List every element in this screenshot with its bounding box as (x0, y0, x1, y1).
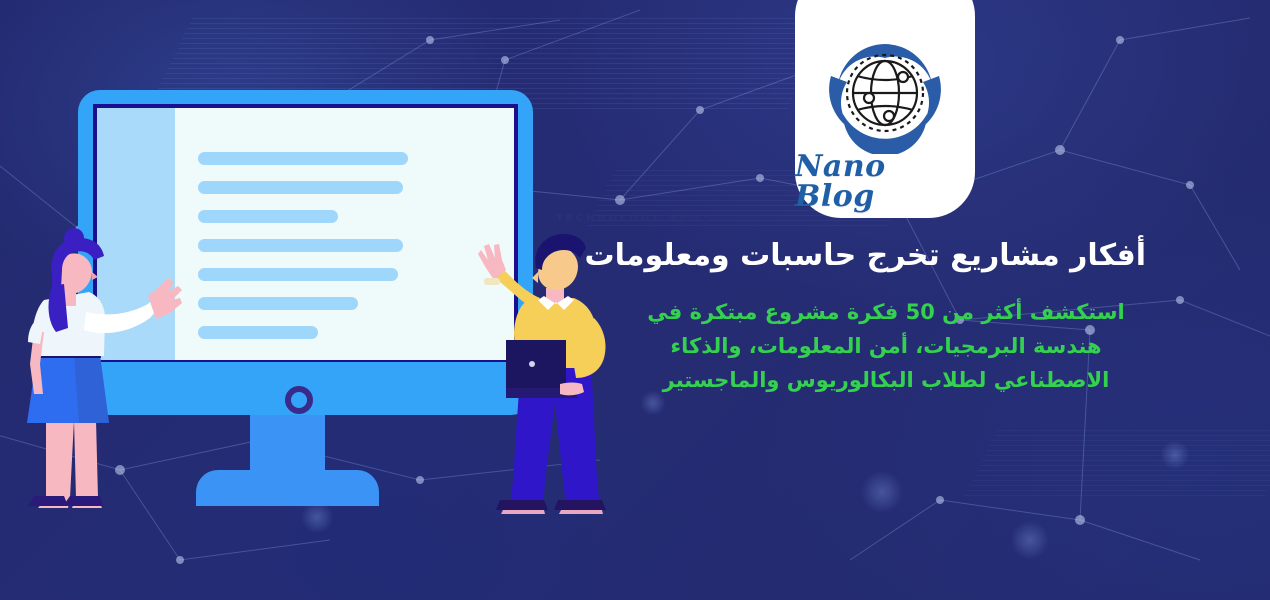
bokeh-glow (860, 470, 904, 514)
stripe-accent-bottom (963, 430, 1270, 500)
hero-illustration (0, 0, 640, 600)
text-block: أفكار مشاريع تخرج حاسبات ومعلومات استكشف… (626, 236, 1146, 397)
brand-wordmark: Nano Blog (795, 152, 975, 212)
bokeh-glow (1160, 440, 1190, 470)
brand-tagline: TECHNOLOGY NEWS (0, 213, 1270, 224)
monitor-stand-base (196, 470, 379, 506)
brand-logo-card: Nano Blog (795, 0, 975, 218)
bokeh-glow (1010, 520, 1050, 560)
page-subtitle: استكشف أكثر من 50 فكرة مشروع مبتكرة في ه… (626, 295, 1146, 397)
banner-root: Nano Blog TECHNOLOGY NEWS أفكار مشاريع ت… (0, 0, 1270, 600)
page-title: أفكار مشاريع تخرج حاسبات ومعلومات (626, 236, 1146, 277)
globe-network-icon (825, 36, 945, 154)
